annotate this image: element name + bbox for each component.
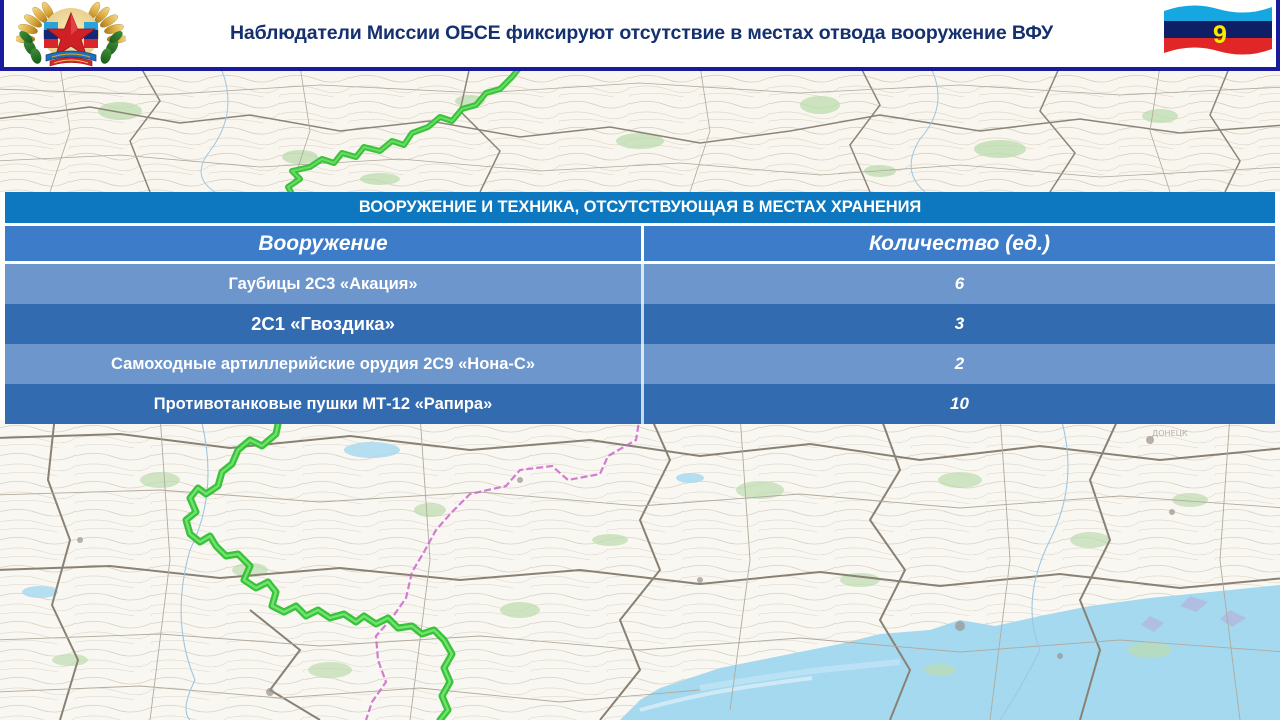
header-band: Наблюдатели Миссии ОБСЕ фиксируют отсутс… bbox=[0, 0, 1280, 71]
weapons-table: ВООРУЖЕНИЕ И ТЕХНИКА, ОТСУТСТВУЮЩАЯ В МЕ… bbox=[5, 192, 1275, 424]
table-header-row: Вооружение Количество (ед.) bbox=[5, 226, 1275, 261]
table-row: Противотанковые пушки МТ-12 «Рапира» 10 bbox=[5, 384, 1275, 424]
cell-quantity: 3 bbox=[644, 304, 1275, 344]
topographic-map-bottom-graphic: ДОНЕЦК bbox=[0, 420, 1280, 720]
cell-weapon: 2С1 «Гвоздика» bbox=[5, 304, 641, 344]
cell-quantity: 2 bbox=[644, 344, 1275, 384]
lpr-flag-icon: 9 bbox=[1162, 3, 1274, 65]
coat-of-arms-graphic bbox=[16, 1, 126, 69]
cell-quantity: 6 bbox=[644, 264, 1275, 304]
table-row: Самоходные артиллерийские орудия 2С9 «Но… bbox=[5, 344, 1275, 384]
cell-weapon: Гаубицы 2С3 «Акация» bbox=[5, 264, 641, 304]
page-number: 9 bbox=[1162, 3, 1274, 65]
topographic-map-top-graphic: .. bbox=[0, 71, 1280, 192]
cell-quantity: 10 bbox=[644, 384, 1275, 424]
map-bottom: ДОНЕЦК bbox=[0, 420, 1280, 720]
svg-text:.: . bbox=[680, 98, 681, 103]
cell-weapon: Самоходные артиллерийские орудия 2С9 «Но… bbox=[5, 344, 641, 384]
page-title: Наблюдатели Миссии ОБСЕ фиксируют отсутс… bbox=[134, 0, 1149, 67]
table-title: ВООРУЖЕНИЕ И ТЕХНИКА, ОТСУТСТВУЮЩАЯ В МЕ… bbox=[5, 192, 1275, 223]
cell-weapon: Противотанковые пушки МТ-12 «Рапира» bbox=[5, 384, 641, 424]
column-header-weapon: Вооружение bbox=[5, 226, 641, 261]
map-top: .. bbox=[0, 71, 1280, 192]
slide: .. bbox=[0, 0, 1280, 720]
table-row: 2С1 «Гвоздика» 3 bbox=[5, 304, 1275, 344]
svg-text:.: . bbox=[370, 110, 371, 115]
column-header-quantity: Количество (ед.) bbox=[644, 226, 1275, 261]
svg-text:ДОНЕЦК: ДОНЕЦК bbox=[1152, 429, 1188, 438]
header-right-border bbox=[1276, 0, 1280, 71]
lpr-coat-of-arms-icon bbox=[16, 1, 126, 69]
table-row: Гаубицы 2С3 «Акация» 6 bbox=[5, 264, 1275, 304]
